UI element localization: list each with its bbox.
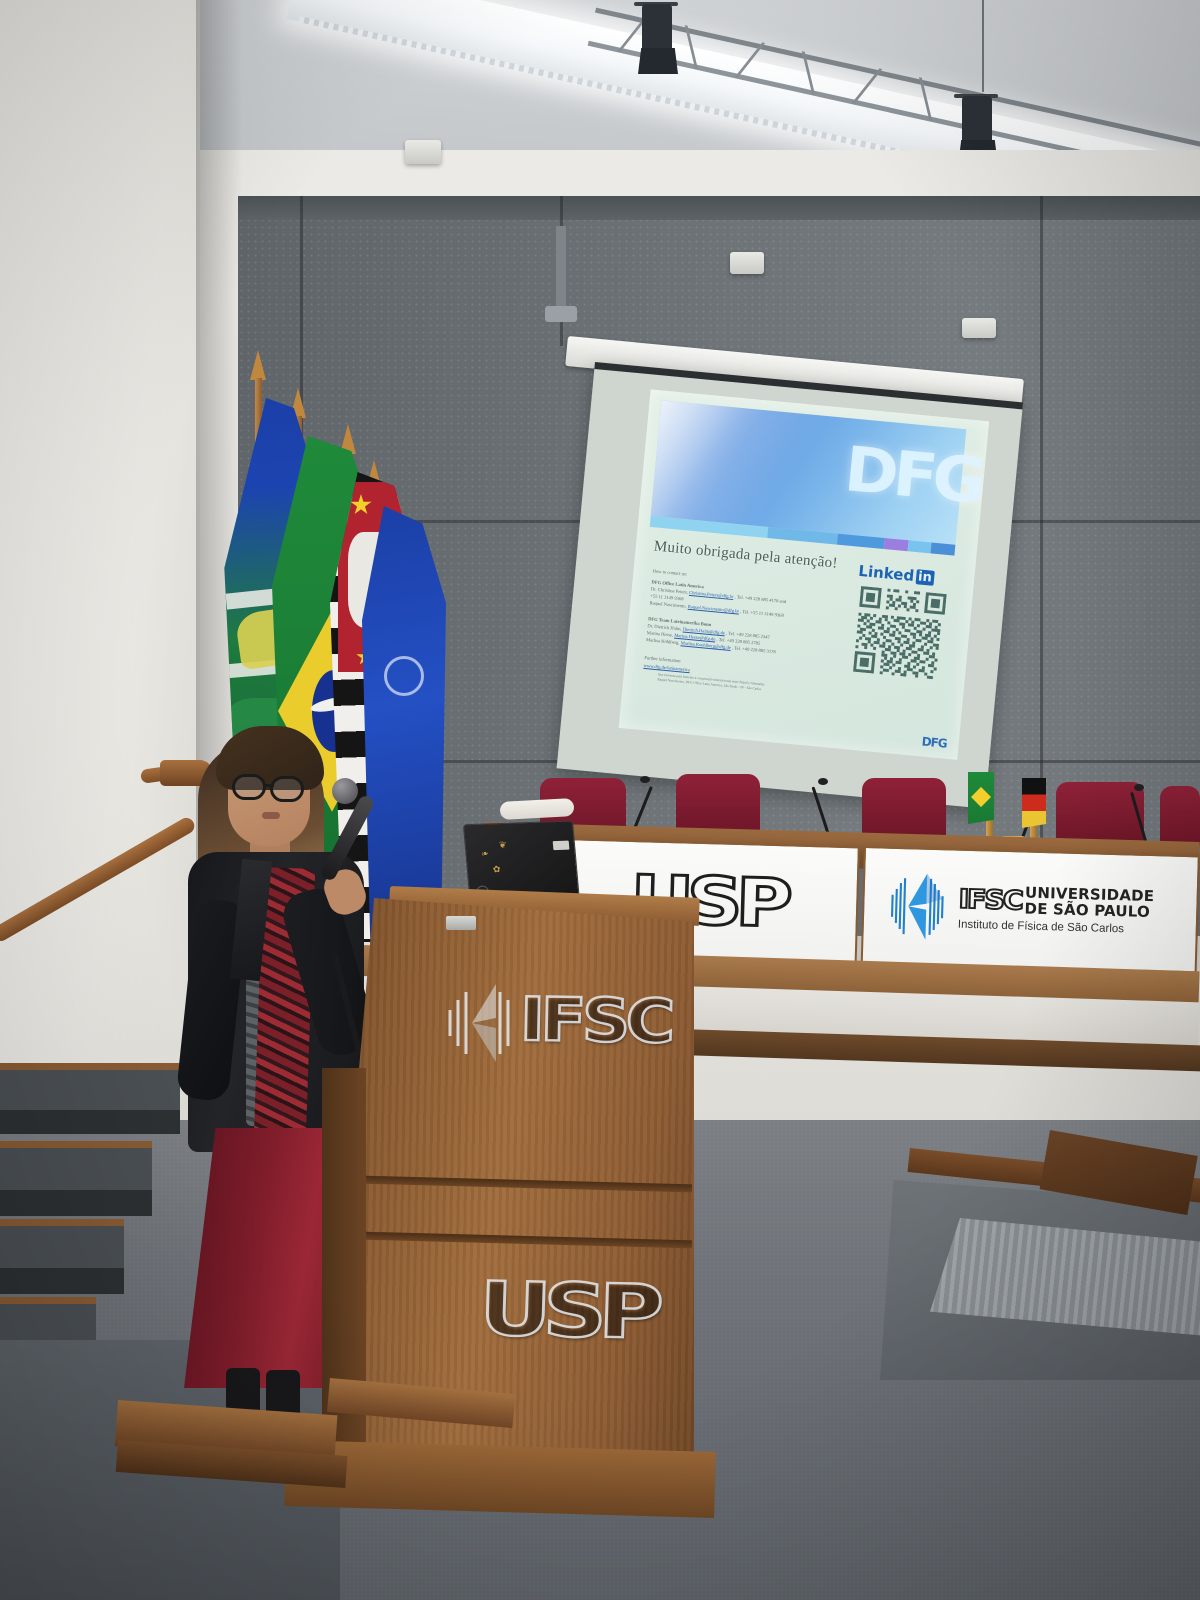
ifsc-abbreviation: IFSC (958, 887, 1022, 915)
germany-desk-flag (1022, 778, 1046, 828)
ifsc-text-block: IFSC UNIVERSIDADE DE SÃO PAULO Instituto… (958, 884, 1155, 937)
projection-screen: DFG Muito obrigada pela atenção! How to … (557, 362, 1023, 809)
laptop-badge (553, 841, 570, 851)
contact-phone: , Tel. +49 228 885 4178 and (734, 594, 786, 604)
ifsc-institute-line: Instituto de Física de São Carlos (958, 920, 1154, 937)
contact-email[interactable]: Raquel.Nascimento@dfg.br (688, 604, 740, 614)
microphone-head-icon (332, 778, 358, 804)
linkedin-badge-icon: in (915, 569, 934, 586)
eyeglasses-left-lens (232, 774, 266, 800)
lectern-ifsc-logo (438, 978, 520, 1075)
truss-brace (735, 42, 766, 77)
hanging-rod-bracket (545, 306, 577, 322)
microphone-capsule (1134, 784, 1144, 791)
ceiling-speaker (405, 140, 441, 164)
acoustic-panel-top-rail (238, 196, 1200, 220)
lectern-base (284, 1440, 716, 1518)
slide-contact-heading: How to contact us: (652, 568, 687, 578)
chair[interactable] (862, 778, 946, 840)
ceiling-speaker (962, 318, 996, 338)
stair-step (0, 1148, 152, 1208)
slide-title: Muito obrigada pela atenção! (653, 538, 838, 572)
chair[interactable] (676, 774, 760, 836)
truss-brace (852, 68, 883, 103)
mouth (262, 812, 280, 819)
ifsc-university-line2: DE SÃO PAULO (1024, 902, 1154, 921)
photo-canvas: DFG Muito obrigada pela atenção! How to … (0, 0, 1200, 1600)
hanging-rod (556, 226, 566, 310)
lectern-panel-groove (362, 1176, 692, 1193)
dfg-logo-large: DFG (842, 432, 984, 517)
brazil-desk-flag (968, 772, 994, 824)
microphone-capsule (818, 778, 828, 785)
eyeglasses-bridge (264, 784, 274, 787)
contact-name: Marina Hesse, (647, 630, 674, 637)
eyeglasses-right-lens (270, 776, 304, 802)
linkedin-wordmark: Linked (858, 562, 915, 585)
lectern-usp-wordmark: USP (478, 1266, 657, 1356)
lectern-control-plate[interactable] (446, 916, 476, 930)
laptop-sticker: ✿ (492, 865, 501, 876)
flagpole-finial (250, 350, 266, 380)
microphone-capsule (640, 776, 650, 783)
contact-phone: , Tel. +49 228 885 3178 (732, 645, 776, 654)
slide-further-link[interactable]: www.dfg.de/latinamerica (643, 663, 690, 674)
presentation-slide: DFG Muito obrigada pela atenção! How to … (619, 389, 989, 759)
contact-phone: , Tel. +55 11 3149 9368 (740, 609, 784, 618)
stair-step (0, 1226, 124, 1286)
ifsc-title-row: IFSC UNIVERSIDADE DE SÃO PAULO (958, 884, 1154, 921)
ifsc-banner: IFSC UNIVERSIDADE DE SÃO PAULO Instituto… (861, 846, 1200, 973)
qr-code-icon[interactable] (853, 586, 947, 680)
ceiling-speaker (730, 252, 764, 274)
ifsc-diamond-icon (885, 865, 949, 949)
hair-top (216, 726, 324, 790)
dfg-logo-footer: DFG (921, 734, 947, 750)
contact-email[interactable]: Christina.Peters@dfg.br (689, 590, 734, 599)
lectern-ifsc-wordmark: IFSC (519, 985, 671, 1057)
linkedin-logo: Linkedin (858, 562, 935, 587)
chair[interactable] (1160, 786, 1200, 848)
laptop-sticker: ❦ (499, 841, 507, 852)
lectern-panel-groove (362, 1232, 692, 1249)
